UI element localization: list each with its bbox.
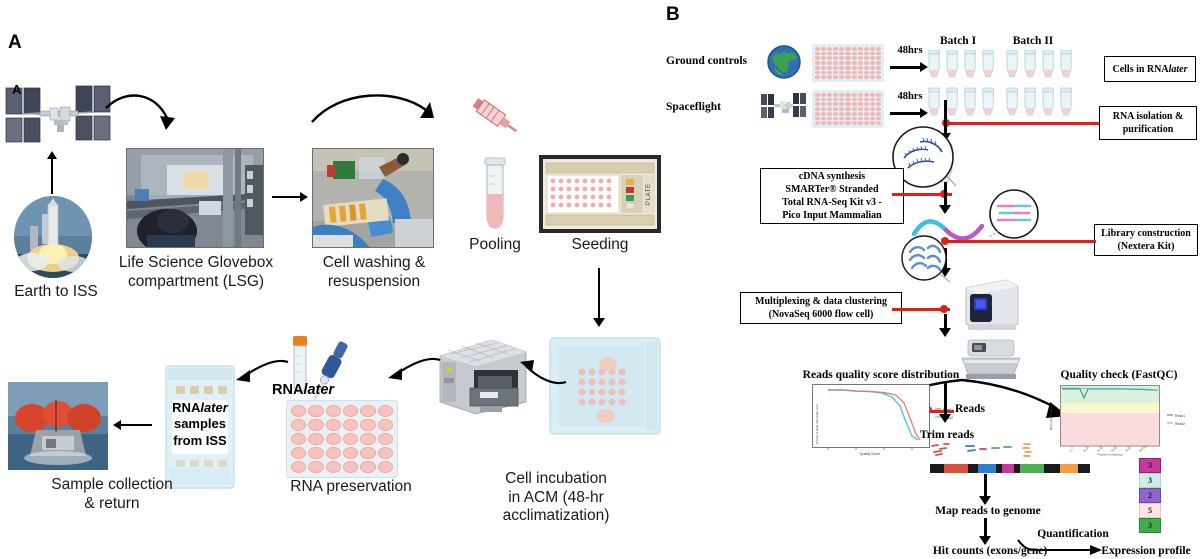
plate-well — [852, 52, 857, 56]
read-segment — [944, 464, 968, 473]
label-pooling: Pooling — [452, 236, 538, 255]
plate-well — [852, 102, 857, 106]
arrow-to-cdna-head — [939, 205, 951, 214]
plate-well — [858, 117, 863, 121]
plate-well — [858, 107, 863, 111]
plate-well — [821, 93, 826, 97]
expression-block: 2 — [1139, 488, 1161, 503]
plate-well — [852, 56, 857, 60]
plate-well — [378, 433, 393, 445]
plate-well — [827, 121, 832, 125]
plate-well — [852, 66, 857, 70]
plate-well — [858, 52, 863, 56]
plate-well — [845, 71, 850, 75]
plate-well — [870, 47, 875, 51]
plate-well — [858, 47, 863, 51]
chart-quality-check-fastqc: 1-4 20-24 40-44 60-64 80-84 100-104 Posi… — [1046, 384, 1164, 456]
callout-cells-in-rnalater: Cells in RNAlater — [1104, 56, 1196, 82]
plate-well — [326, 461, 341, 473]
syringe-icon — [466, 86, 522, 142]
plate-well — [864, 56, 869, 60]
plate-well — [360, 405, 375, 417]
pooling-tube-icon — [478, 156, 512, 232]
plate-well — [839, 56, 844, 60]
legend-fastqc-plot: Read1 Read2 — [1166, 410, 1196, 428]
plate-well — [326, 447, 341, 459]
svg-text:Quality Score: Quality Score — [860, 452, 880, 456]
plate-well — [833, 98, 838, 102]
plate-well — [845, 117, 850, 121]
svg-text:Read2: Read2 — [1175, 422, 1185, 426]
plate-well — [815, 117, 820, 121]
label-batch-2: Batch II — [1000, 34, 1066, 48]
read-segment — [1002, 464, 1014, 473]
label-sample-collection: Sample collection & return — [6, 476, 218, 513]
label-rna-preservation: RNA preservation — [276, 478, 426, 497]
plate-well — [291, 447, 306, 459]
arrow-bag-to-acm — [518, 352, 568, 390]
plate-well — [815, 102, 820, 106]
eppendorf-tube-grid — [928, 50, 1076, 126]
plate-well — [876, 47, 881, 51]
plate-well — [876, 66, 881, 70]
plate-ground-controls — [812, 44, 884, 82]
plate-well — [858, 112, 863, 116]
arrow-to-flowcell-head — [939, 328, 951, 337]
plate-well — [833, 47, 838, 51]
plate-well — [833, 117, 838, 121]
plate-well — [815, 107, 820, 111]
arrow-bag-to-capsule-head — [113, 420, 121, 430]
plate-well — [839, 75, 844, 79]
plate-well — [821, 107, 826, 111]
figure-canvas: A A — [0, 0, 1200, 559]
plate-well — [360, 419, 375, 431]
plate-well — [378, 405, 393, 417]
flowcell-instrument-icon — [960, 338, 1022, 380]
plate-well — [845, 61, 850, 65]
callout-multiplexing: Multiplexing & data clustering (NovaSeq … — [740, 292, 902, 324]
sequencer-icon — [962, 278, 1022, 334]
plate-well — [291, 419, 306, 431]
seeding-device-photo: PLATE — [539, 155, 661, 233]
plate-well — [876, 61, 881, 65]
plate-well — [845, 56, 850, 60]
plate-well — [326, 419, 341, 431]
plate-well — [815, 52, 820, 56]
plate-well — [864, 93, 869, 97]
plate-well — [815, 121, 820, 125]
plate-well — [876, 56, 881, 60]
plate-well — [308, 461, 323, 473]
plate-well — [815, 93, 820, 97]
plate-well — [870, 71, 875, 75]
plate-well — [876, 93, 881, 97]
bag-label-line2: samples — [172, 416, 228, 432]
rna-preservation-plate — [286, 400, 398, 478]
plate-well — [821, 61, 826, 65]
title-fastqc-plot: Quality check (FastQC) — [1036, 368, 1200, 382]
earth-globe-icon — [766, 44, 802, 80]
plate-well — [852, 121, 857, 125]
plate-well — [845, 112, 850, 116]
plate-well — [864, 117, 869, 121]
plate-well — [833, 71, 838, 75]
plate-well — [827, 47, 832, 51]
plate-well — [815, 112, 820, 116]
plate-well — [876, 117, 881, 121]
plate-well — [839, 117, 844, 121]
plate-well — [308, 447, 323, 459]
bag-label-text: RNAlater samples from ISS — [172, 400, 228, 449]
plate-well — [845, 66, 850, 70]
plate-well — [839, 66, 844, 70]
plate-well — [827, 56, 832, 60]
plate-well — [876, 52, 881, 56]
plate-well — [308, 419, 323, 431]
svg-text:Mean Quality Score: Mean Quality Score — [1049, 405, 1053, 430]
plate-well — [839, 121, 844, 125]
svg-text:1-4: 1-4 — [1068, 447, 1074, 453]
arrow-lsg-to-washing-head — [300, 192, 308, 202]
label-seeding: Seeding — [556, 236, 644, 255]
plate-well — [378, 419, 393, 431]
plate-well — [833, 93, 838, 97]
plate-well — [864, 61, 869, 65]
trim-reads-fragments-icon — [930, 442, 1050, 464]
label-map-reads: Map reads to genome — [918, 504, 1058, 518]
read-segment — [1078, 464, 1090, 473]
plate-well — [827, 102, 832, 106]
arrow-to-trim-reads-line — [944, 382, 947, 418]
plate-well — [858, 121, 863, 125]
plate-well — [360, 433, 375, 445]
cell-washing-photo — [312, 148, 434, 248]
read-segment — [1044, 464, 1060, 473]
plate-well — [864, 75, 869, 79]
plate-well — [821, 66, 826, 70]
plate-well — [821, 112, 826, 116]
plate-well — [839, 47, 844, 51]
plate-well — [833, 102, 838, 106]
plate-well — [821, 98, 826, 102]
arrow-lsg-to-washing-line — [272, 196, 302, 198]
acm-hardware-image — [436, 336, 528, 418]
plate-well — [815, 98, 820, 102]
plate-well — [876, 112, 881, 116]
plate-well — [864, 102, 869, 106]
arrow-rocket-to-iss-head — [47, 151, 57, 159]
label-cell-washing: Cell washing & resuspension — [300, 254, 448, 291]
plate-well — [845, 102, 850, 106]
plate-well — [876, 98, 881, 102]
capsule-splashdown-photo — [8, 382, 108, 470]
plate-well — [858, 102, 863, 106]
plate-well — [827, 112, 832, 116]
plate-well — [827, 117, 832, 121]
arrow-seeding-down-head — [593, 318, 605, 327]
chart-reads-quality-distribution: Quality Score Fraction of reads with qua… — [812, 384, 930, 456]
plate-well — [815, 66, 820, 70]
plate-well — [852, 93, 857, 97]
plate-well — [876, 121, 881, 125]
callout-rna-isolation: RNA isolation & purification — [1099, 106, 1197, 140]
plate-well — [845, 93, 850, 97]
plate-well — [852, 107, 857, 111]
plate-well — [833, 107, 838, 111]
arrow-quantification — [1016, 538, 1104, 558]
plate-well — [876, 75, 881, 79]
arrow-iss-to-lsg — [104, 86, 180, 142]
plate-well — [839, 98, 844, 102]
plate-well — [833, 56, 838, 60]
plate-well — [833, 75, 838, 79]
plate-well — [845, 75, 850, 79]
arrow-washing-to-pooling — [310, 88, 440, 134]
plate-well — [326, 433, 341, 445]
plate-well — [852, 98, 857, 102]
plate-well — [870, 112, 875, 116]
bag-label-line3: from ISS — [172, 433, 228, 449]
callout-cdna-synthesis: cDNA synthesis SMARTer® Stranded Total R… — [760, 168, 904, 224]
plate-well — [343, 405, 358, 417]
plate-well — [870, 93, 875, 97]
svg-text:Read1: Read1 — [1175, 414, 1185, 418]
plate-well — [858, 93, 863, 97]
plate-well — [870, 102, 875, 106]
plate-well — [839, 71, 844, 75]
plate-well — [308, 405, 323, 417]
plate-well — [870, 121, 875, 125]
label-earth-to-iss: Earth to ISS — [0, 283, 112, 302]
plate-well — [326, 405, 341, 417]
red-line-rna-isolation — [947, 122, 1099, 125]
read-segment — [930, 464, 944, 473]
plate-well — [852, 112, 857, 116]
plate-well — [839, 107, 844, 111]
label-reads: Reads — [955, 402, 1007, 416]
plate-well — [839, 52, 844, 56]
plate-well — [815, 61, 820, 65]
plate-well — [864, 52, 869, 56]
plate-well — [852, 71, 857, 75]
plate-well — [852, 47, 857, 51]
plate-spaceflight — [812, 90, 884, 128]
plate-well — [864, 112, 869, 116]
plate-well — [864, 121, 869, 125]
iss-station-icon — [760, 90, 808, 122]
plate-well — [833, 121, 838, 125]
plate-well — [864, 47, 869, 51]
plate-well — [839, 61, 844, 65]
arrow-preservation-to-bag — [236, 358, 290, 392]
label-lsg: Life Science Glovebox compartment (LSG) — [108, 254, 284, 291]
read-segment — [1020, 464, 1044, 473]
library-magnifier-icon — [986, 186, 1042, 242]
plate-well — [827, 66, 832, 70]
title-reads-quality-plot: Reads quality score distribution — [796, 368, 966, 382]
plate-well — [833, 66, 838, 70]
plate-well — [343, 461, 358, 473]
arrow-bag-to-capsule-line — [120, 424, 152, 426]
duration-ground-controls: 48hrs — [890, 44, 930, 57]
plate-well — [378, 447, 393, 459]
panel-b-letter: B — [666, 4, 680, 26]
plate-well — [827, 52, 832, 56]
arrow-seeding-down-line — [598, 268, 600, 320]
rocket-launch-image — [12, 196, 94, 278]
expression-block: 3 — [1139, 473, 1161, 488]
plate-well — [821, 56, 826, 60]
svg-text:Fraction of reads with quality: Fraction of reads with quality score — [815, 403, 819, 444]
trim-reads-bar — [930, 464, 1090, 473]
plate-well — [858, 71, 863, 75]
plate-well — [308, 433, 323, 445]
plate-well — [343, 433, 358, 445]
plate-well — [858, 75, 863, 79]
label-ground-controls: Ground controls — [666, 54, 758, 68]
plate-well — [876, 71, 881, 75]
plate-well — [291, 405, 306, 417]
plate-well — [833, 52, 838, 56]
plate-well — [821, 102, 826, 106]
plate-well — [852, 117, 857, 121]
plate-well — [870, 98, 875, 102]
plate-well — [827, 71, 832, 75]
read-segment — [968, 464, 978, 473]
plate-well — [876, 102, 881, 106]
plate-well — [827, 61, 832, 65]
expression-profile-blocks: 3 3 2 5 3 — [1139, 458, 1161, 533]
plate-well — [343, 419, 358, 431]
red-dot-multiplexing — [940, 305, 948, 313]
plate-well — [827, 98, 832, 102]
plate-well — [870, 117, 875, 121]
label-trim-reads: Trim reads — [910, 428, 984, 442]
plate-well — [858, 98, 863, 102]
plate-well — [864, 98, 869, 102]
arrow-to-trim-reads-head — [939, 414, 951, 423]
arrow-acm-to-preservation — [388, 354, 442, 388]
plate-well — [821, 75, 826, 79]
read-segment — [1060, 464, 1078, 473]
svg-text:Position in read (bp): Position in read (bp) — [1097, 453, 1122, 457]
callout-library-construction: Library construction (Nextera Kit) — [1094, 224, 1198, 256]
plate-well — [845, 98, 850, 102]
plate-well — [852, 61, 857, 65]
plate-well — [870, 75, 875, 79]
plate-well — [360, 461, 375, 473]
plate-well — [821, 121, 826, 125]
plate-well — [378, 461, 393, 473]
plate-well — [870, 52, 875, 56]
plate-well — [833, 112, 838, 116]
arrow-ground-to-batches-line — [890, 66, 922, 69]
plate-well — [870, 66, 875, 70]
label-spaceflight: Spaceflight — [666, 100, 758, 114]
plate-well — [815, 56, 820, 60]
plate-well — [858, 61, 863, 65]
plate-well — [821, 47, 826, 51]
read-segment — [978, 464, 996, 473]
plate-well — [845, 47, 850, 51]
duration-spaceflight: 48hrs — [890, 90, 930, 103]
plate-well — [821, 71, 826, 75]
plate-well — [821, 117, 826, 121]
plate-well — [852, 75, 857, 79]
red-line-library — [948, 240, 1096, 243]
plate-well — [291, 461, 306, 473]
label-batch-1: Batch I — [928, 34, 988, 48]
label-cell-incubation: Cell incubation in ACM (48-hr acclimatiz… — [466, 470, 646, 526]
plate-well — [858, 56, 863, 60]
plate-well — [827, 93, 832, 97]
arrow-rocket-to-iss-line — [51, 158, 53, 194]
expression-block: 3 — [1139, 518, 1161, 533]
plate-well — [833, 61, 838, 65]
arrow-ground-to-batches-head — [920, 62, 928, 72]
plate-well — [839, 102, 844, 106]
plate-well — [876, 107, 881, 111]
plate-well — [845, 121, 850, 125]
expression-block: 3 — [1139, 458, 1161, 473]
plate-well — [839, 93, 844, 97]
expression-block: 5 — [1139, 503, 1161, 518]
svg-text:PLATE: PLATE — [646, 183, 652, 205]
plate-well — [821, 52, 826, 56]
plate-well — [870, 107, 875, 111]
plate-well — [360, 447, 375, 459]
plate-well — [815, 47, 820, 51]
bag-label-line1: RNAlater — [172, 400, 228, 416]
cluster-magnifier-icon — [898, 232, 950, 284]
plate-well — [864, 66, 869, 70]
plate-well — [845, 52, 850, 56]
plate-well — [845, 107, 850, 111]
plate-well — [858, 66, 863, 70]
plate-well — [839, 112, 844, 116]
lsg-photo — [126, 148, 264, 248]
plate-well — [815, 75, 820, 79]
iss-inline-letter: A — [12, 82, 21, 97]
plate-well — [870, 56, 875, 60]
plate-well — [827, 75, 832, 79]
panel-a-letter: A — [8, 32, 22, 54]
label-expression-profile: Expression profile — [1092, 544, 1200, 558]
plate-well — [864, 71, 869, 75]
plate-well — [815, 71, 820, 75]
plate-well — [291, 433, 306, 445]
plate-well — [343, 447, 358, 459]
arrow-spaceflight-to-batches-head — [920, 108, 928, 118]
plate-well — [864, 107, 869, 111]
arrow-spaceflight-to-batches-line — [890, 112, 922, 115]
plate-well — [870, 61, 875, 65]
plate-well — [827, 107, 832, 111]
